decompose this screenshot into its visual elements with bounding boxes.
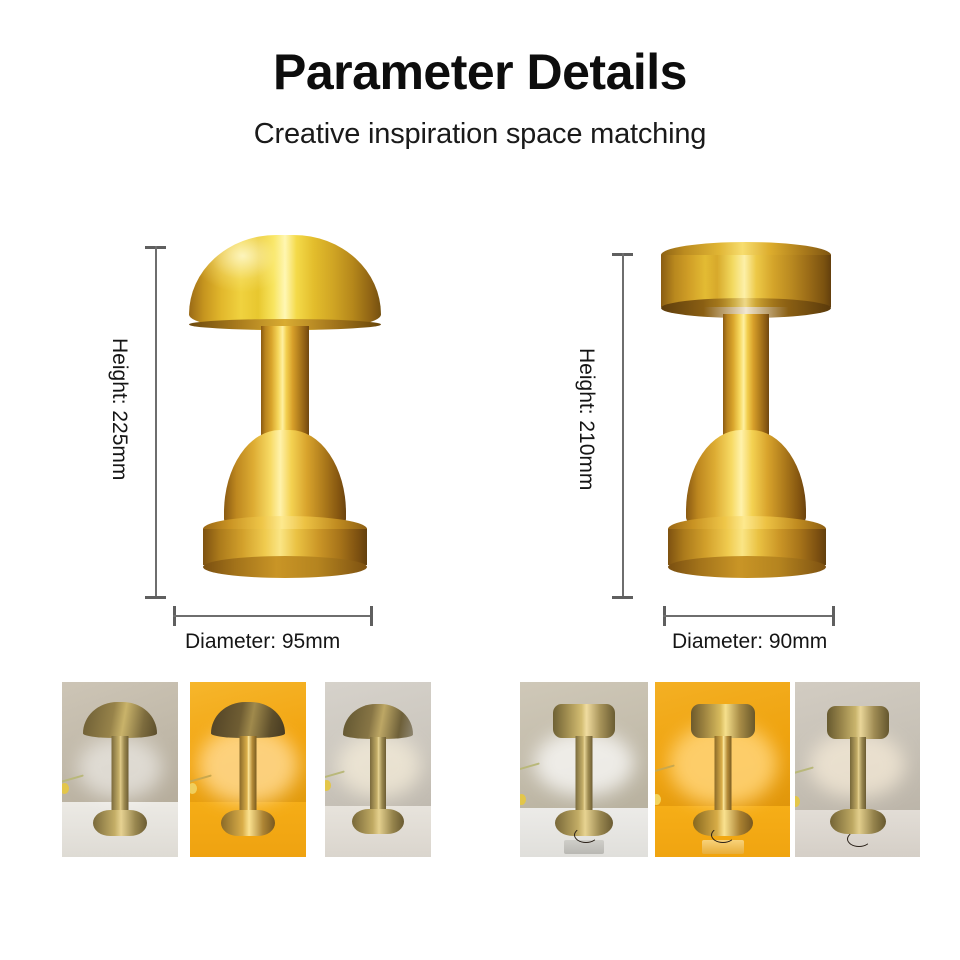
dimension-cap-right: [370, 606, 373, 626]
product-illustration-cylinder-lamp: [646, 238, 846, 598]
lamp-base-bottom: [668, 556, 826, 578]
page-subtitle: Creative inspiration space matching: [0, 99, 960, 151]
product-illustration-dome-lamp: [175, 230, 395, 598]
page-title: Parameter Details: [0, 0, 960, 99]
dimension-cap-bottom: [612, 596, 633, 599]
spec-panel-dome-lamp: Height: 225mm Diameter: 95mm: [90, 230, 490, 670]
lamp-base-bottom: [203, 556, 367, 578]
diameter-label-dome: Diameter: 95mm: [185, 630, 340, 654]
thumbnail-cylinder-warm[interactable]: [655, 682, 790, 857]
dimension-line-vertical: [155, 246, 157, 598]
dimension-line-horizontal: [663, 615, 835, 617]
dimension-line-vertical: [622, 253, 624, 598]
thumbnail-dome-neutral[interactable]: [325, 682, 431, 857]
thumbnail-dome-cool[interactable]: [62, 682, 178, 857]
dimension-line-horizontal: [173, 615, 373, 617]
dimension-cap-right: [832, 606, 835, 626]
lamp-head-cylinder: [661, 242, 831, 318]
header: Parameter Details Creative inspiration s…: [0, 0, 960, 151]
dimension-cap-bottom: [145, 596, 166, 599]
lamp-base-dome: [203, 516, 367, 578]
thumbnail-cylinder-neutral[interactable]: [795, 682, 920, 857]
spec-panel-cylinder-lamp: Height: 210mm Diameter: 90mm: [548, 230, 948, 670]
height-label-cylinder: Height: 210mm: [574, 348, 598, 490]
lamp-stem-upper: [261, 326, 309, 438]
lamp-head-dome: [189, 235, 381, 330]
lamp-base-cylinder: [668, 516, 826, 578]
height-label-dome: Height: 225mm: [107, 338, 131, 480]
lamp-stem-upper: [723, 314, 769, 438]
thumbnail-dome-warm[interactable]: [190, 682, 306, 857]
diameter-label-cylinder: Diameter: 90mm: [672, 630, 827, 654]
thumbnail-cylinder-cool[interactable]: [520, 682, 648, 857]
